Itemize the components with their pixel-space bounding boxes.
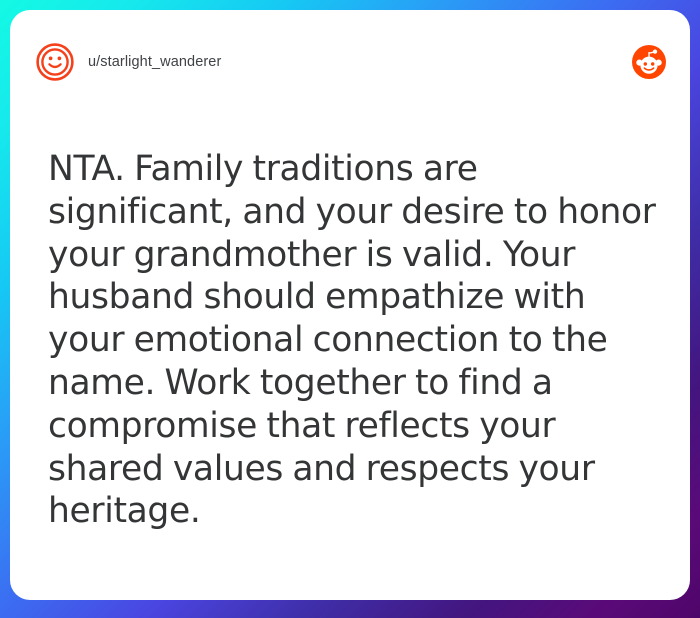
smiley-face-avatar-icon[interactable] (36, 43, 74, 81)
reddit-snoo-icon[interactable] (632, 45, 666, 79)
username-label: u/starlight_wanderer (88, 54, 221, 70)
post-body-text: NTA. Family traditions are significant, … (48, 148, 664, 533)
gradient-background: u/starlight_wanderer (0, 0, 700, 618)
reddit-comment-card: u/starlight_wanderer (10, 10, 690, 600)
card-header: u/starlight_wanderer (36, 38, 666, 86)
